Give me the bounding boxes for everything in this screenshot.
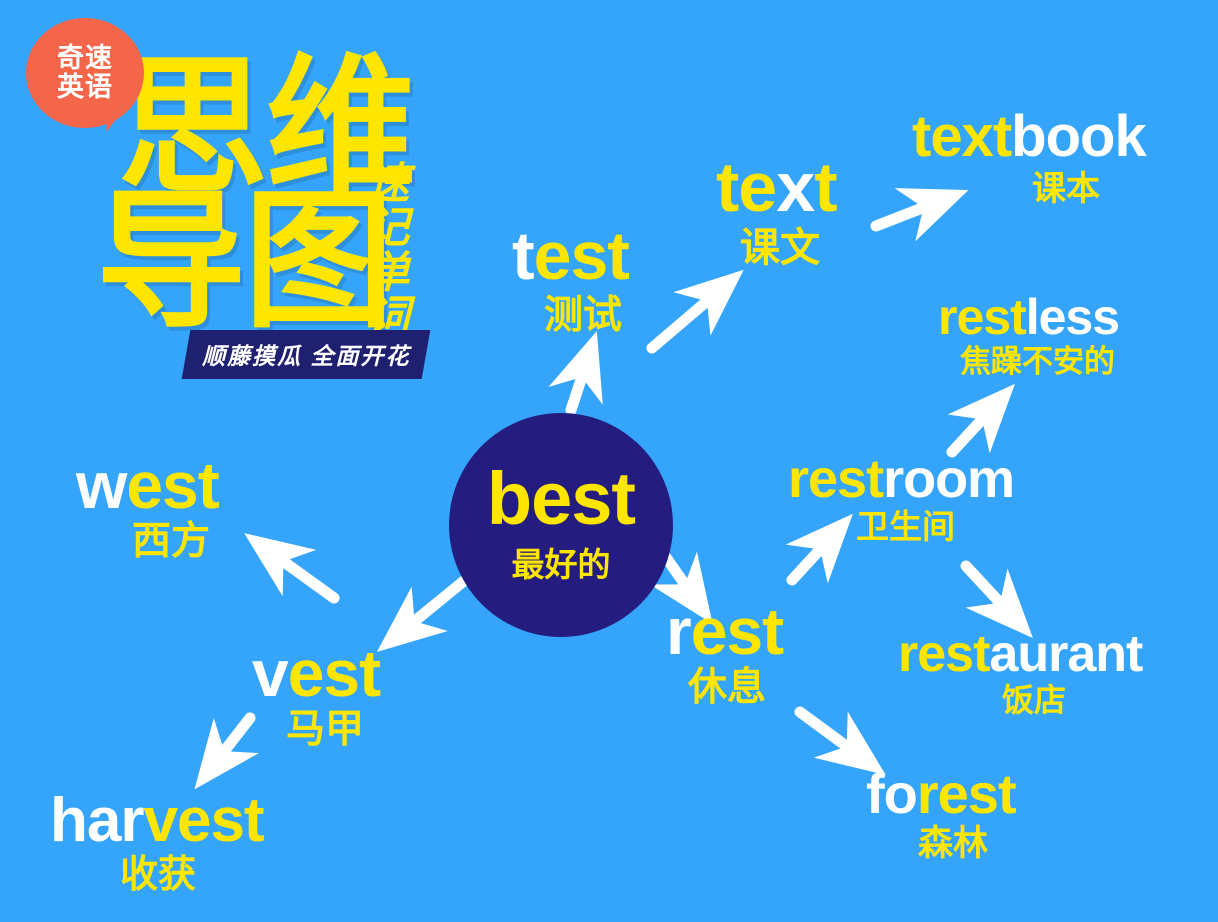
node-restroom-translation: 卫生间 — [856, 510, 1014, 543]
node-forest[interactable]: forest 森林 — [866, 766, 1016, 861]
node-test-part1: t — [512, 218, 534, 294]
node-vest[interactable]: vest 马甲 — [252, 640, 380, 749]
node-textbook-translation: 课本 — [1032, 172, 1146, 206]
arrow-vest-to-harvest — [208, 718, 250, 772]
node-rest-part2: est — [691, 594, 783, 668]
node-rest[interactable]: rest 休息 — [666, 598, 783, 707]
node-restless-translation: 焦躁不安的 — [960, 346, 1119, 377]
node-textbook-part1: text — [912, 104, 1011, 169]
brand-header: 奇速 英语 思维 导图 速记单词 顺藤摸瓜 全面开花 — [0, 0, 480, 400]
arrow-best-to-test — [571, 352, 590, 410]
node-rest-part1: r — [666, 594, 691, 668]
slogan-text: 顺藤摸瓜 全面开花 — [202, 337, 410, 371]
node-text-part2: x — [776, 148, 814, 226]
node-west-part1: w — [76, 448, 126, 522]
node-vest-part1: v — [252, 636, 288, 710]
brand-badge: 奇速 英语 — [26, 18, 144, 128]
node-forest-part2: rest — [917, 762, 1016, 825]
node-harvest-translation: 收获 — [120, 856, 264, 894]
node-forest-translation: 森林 — [918, 826, 1016, 861]
node-restaurant[interactable]: restaurant 饭店 — [898, 628, 1142, 716]
node-vest-translation: 马甲 — [286, 710, 380, 749]
node-harvest-part2: vest — [143, 786, 263, 855]
arrow-best-to-vest — [394, 576, 470, 638]
node-test-translation: 测试 — [544, 296, 629, 335]
node-textbook-part2: book — [1011, 104, 1146, 169]
mindmap-canvas: 奇速 英语 思维 导图 速记单词 顺藤摸瓜 全面开花 best 最好的 test… — [0, 0, 1218, 922]
node-west-part2: est — [126, 448, 218, 522]
arrow-test-to-text — [652, 284, 727, 348]
arrow-restroom-to-restaurant — [966, 566, 1018, 622]
node-test[interactable]: test 测试 — [512, 222, 629, 335]
slogan-band: 顺藤摸瓜 全面开花 — [182, 330, 431, 379]
node-west[interactable]: west 西方 — [76, 452, 219, 561]
node-rest-translation: 休息 — [688, 668, 783, 707]
root-word: best — [487, 464, 635, 534]
node-restroom[interactable]: restroom 卫生间 — [788, 452, 1014, 543]
node-restroom-part1: rest — [788, 449, 883, 509]
node-textbook[interactable]: textbook 课本 — [912, 108, 1146, 206]
node-west-translation: 西方 — [132, 522, 219, 561]
node-restaurant-part2: aurant — [989, 625, 1142, 683]
node-restless[interactable]: restless 焦躁不安的 — [938, 292, 1119, 377]
node-test-part2: est — [534, 218, 629, 294]
root-translation: 最好的 — [512, 538, 611, 586]
node-text-part1: te — [716, 148, 776, 226]
page-title-line-2: 导图 — [96, 196, 392, 328]
badge-line-1: 奇速 — [57, 44, 113, 73]
node-harvest-part1: har — [50, 786, 143, 855]
node-restless-part2: less — [1026, 289, 1119, 345]
root-node-best[interactable]: best 最好的 — [449, 413, 673, 637]
badge-line-2: 英语 — [57, 73, 113, 102]
node-restaurant-part1: rest — [898, 625, 989, 683]
node-text[interactable]: text 课文 — [716, 152, 837, 268]
node-restaurant-translation: 饭店 — [1002, 684, 1142, 716]
node-forest-part1: fo — [866, 762, 917, 825]
arrow-restroom-to-restless — [952, 400, 1000, 452]
arrow-rest-to-forest — [800, 712, 868, 762]
node-restless-part1: rest — [938, 289, 1026, 345]
subtitle-vertical: 速记单词 — [358, 162, 418, 339]
node-text-part3: t — [814, 148, 836, 226]
node-restroom-part2: room — [883, 449, 1014, 509]
node-harvest[interactable]: harvest 收获 — [50, 790, 264, 894]
node-text-translation: 课文 — [740, 228, 837, 268]
arrow-vest-to-west — [262, 546, 334, 598]
node-vest-part2: est — [288, 636, 380, 710]
